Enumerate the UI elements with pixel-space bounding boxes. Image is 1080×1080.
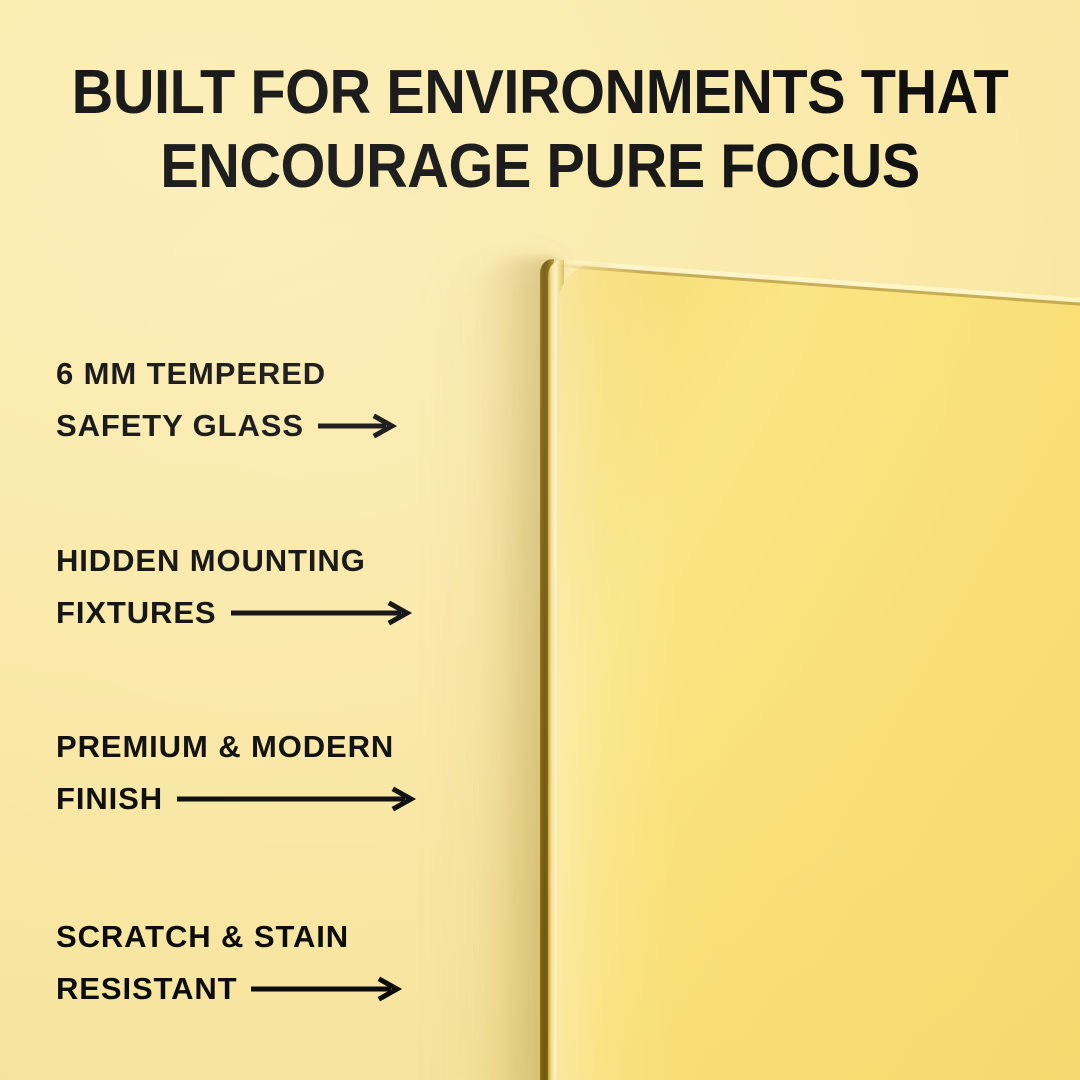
poster-canvas: BUILT FOR ENVIRONMENTS THAT ENCOURAGE PU…: [0, 0, 1080, 1080]
feature-label-line-2: SAFETY GLASS: [56, 400, 304, 452]
feature-line-1: 6 MM TEMPERED: [56, 348, 476, 400]
arrow-right-icon: [177, 788, 413, 810]
feature-line-1: PREMIUM & MODERN: [56, 721, 476, 773]
feature-item-tempered-glass: 6 MM TEMPERED SAFETY GLASS: [56, 348, 476, 452]
feature-item-hidden-mounting: HIDDEN MOUNTING FIXTURES: [56, 535, 476, 639]
feature-label-line-2: FINISH: [56, 773, 163, 825]
feature-line-2: RESISTANT: [56, 963, 476, 1015]
glass-panel: [540, 258, 1080, 1080]
feature-line-2: SAFETY GLASS: [56, 400, 476, 452]
panel-sheen-highlight: [558, 259, 678, 1080]
feature-label-line-1: 6 MM TEMPERED: [56, 348, 326, 400]
arrow-right-icon: [318, 415, 394, 437]
arrow-right-icon: [231, 602, 409, 624]
feature-label-line-1: HIDDEN MOUNTING: [56, 535, 366, 587]
feature-line-2: FINISH: [56, 773, 476, 825]
feature-label-line-1: PREMIUM & MODERN: [56, 721, 394, 773]
feature-label-line-2: FIXTURES: [56, 587, 217, 639]
feature-label-line-2: RESISTANT: [56, 963, 237, 1015]
feature-item-premium-finish: PREMIUM & MODERN FINISH: [56, 721, 476, 825]
feature-item-scratch-resistant: SCRATCH & STAIN RESISTANT: [56, 911, 476, 1015]
arrow-right-icon: [251, 978, 399, 1000]
feature-line-1: SCRATCH & STAIN: [56, 911, 476, 963]
feature-line-2: FIXTURES: [56, 587, 476, 639]
page-title: BUILT FOR ENVIRONMENTS THAT ENCOURAGE PU…: [38, 56, 1042, 204]
feature-line-1: HIDDEN MOUNTING: [56, 535, 476, 587]
feature-label-line-1: SCRATCH & STAIN: [56, 911, 349, 963]
